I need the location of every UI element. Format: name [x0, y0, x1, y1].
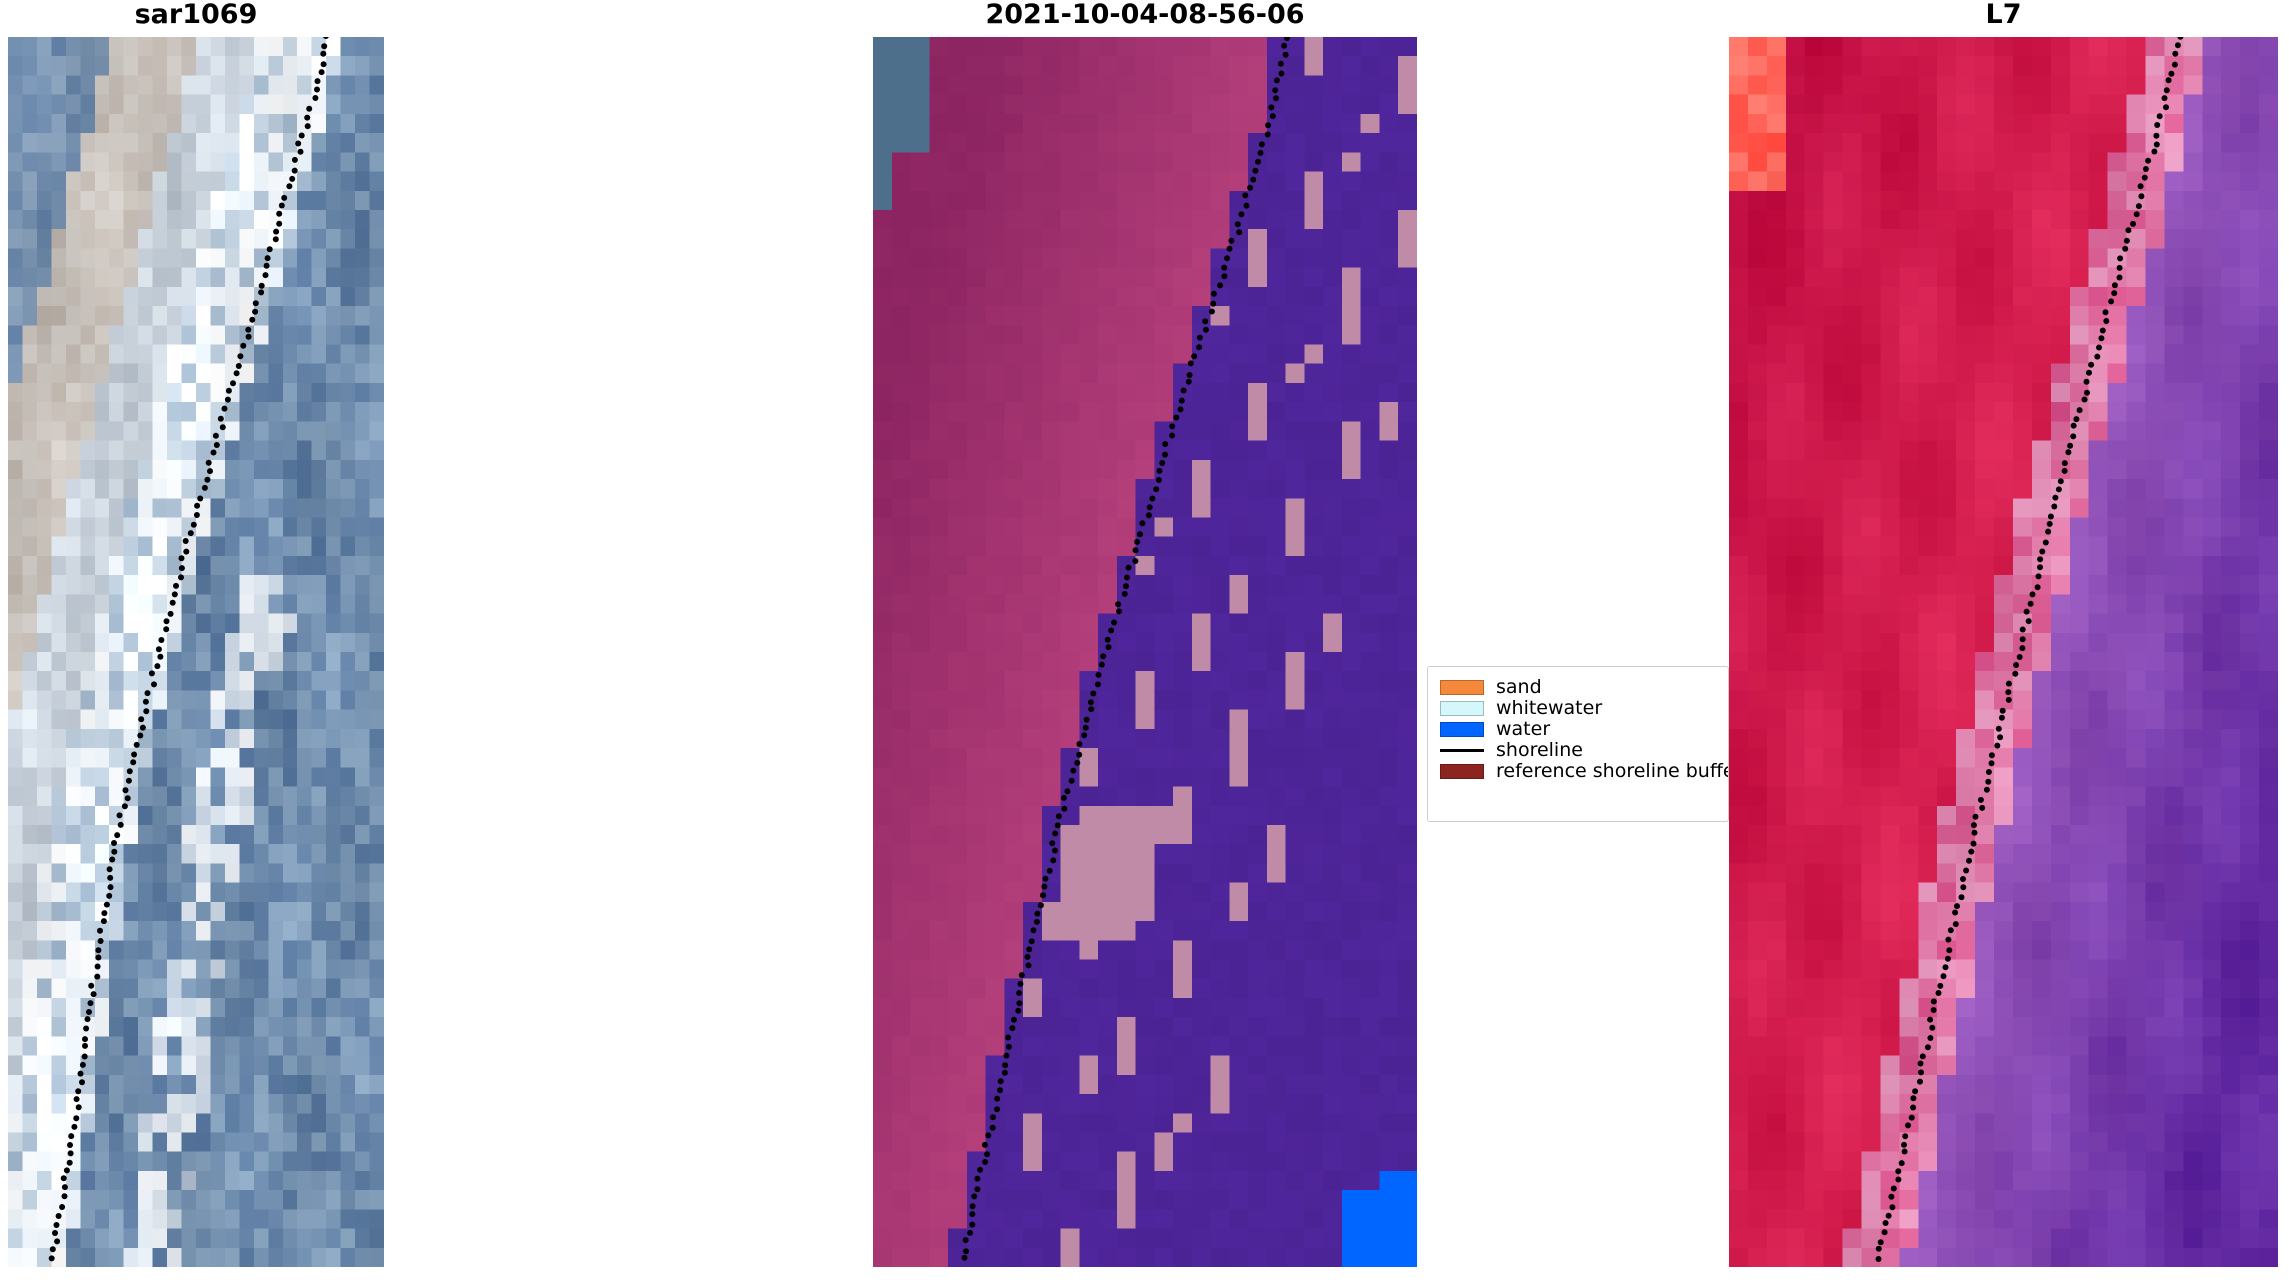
- l7-image-wrap[interactable]: [1729, 37, 2278, 1267]
- panel-title-l7: L7: [1729, 0, 2278, 30]
- l7-raster-image[interactable]: [1729, 37, 2278, 1267]
- l7-panel: L7: [1729, 0, 2278, 1267]
- legend-item-shoreline[interactable]: shoreline: [1440, 740, 1716, 761]
- water-color-swatch: [1440, 722, 1484, 737]
- reference-buffer-color-swatch: [1440, 764, 1484, 779]
- legend-label-whitewater: whitewater: [1496, 698, 1602, 719]
- legend-item-reference-buffer[interactable]: reference shoreline buffer: [1440, 761, 1716, 782]
- sar-raster-image[interactable]: [8, 37, 384, 1267]
- legend-item-whitewater[interactable]: whitewater: [1440, 698, 1716, 719]
- shoreline-line-swatch: [1440, 749, 1484, 752]
- panel-title-sar: sar1069: [8, 0, 384, 30]
- legend-item-water[interactable]: water: [1440, 719, 1716, 740]
- sand-color-swatch: [1440, 680, 1484, 695]
- map-legend: sand whitewater water shoreline referenc…: [1427, 666, 1729, 822]
- classified-panel: 2021-10-04-08-56-06: [873, 0, 1417, 1267]
- legend-label-shoreline: shoreline: [1496, 740, 1583, 761]
- sar-image-wrap[interactable]: [8, 37, 384, 1267]
- whitewater-color-swatch: [1440, 701, 1484, 716]
- legend-label-sand: sand: [1496, 677, 1542, 698]
- sar-rgb-panel: sar1069: [8, 0, 384, 1267]
- legend-label-reference-buffer: reference shoreline buffer: [1496, 761, 1729, 782]
- classified-raster-image[interactable]: [873, 37, 1417, 1267]
- panel-title-date: 2021-10-04-08-56-06: [873, 0, 1417, 30]
- legend-label-water: water: [1496, 719, 1550, 740]
- legend-item-sand[interactable]: sand: [1440, 677, 1716, 698]
- classified-image-wrap[interactable]: [873, 37, 1417, 1267]
- figure-canvas: sar1069 2021-10-04-08-56-06 L7 sand whit…: [0, 0, 2289, 1283]
